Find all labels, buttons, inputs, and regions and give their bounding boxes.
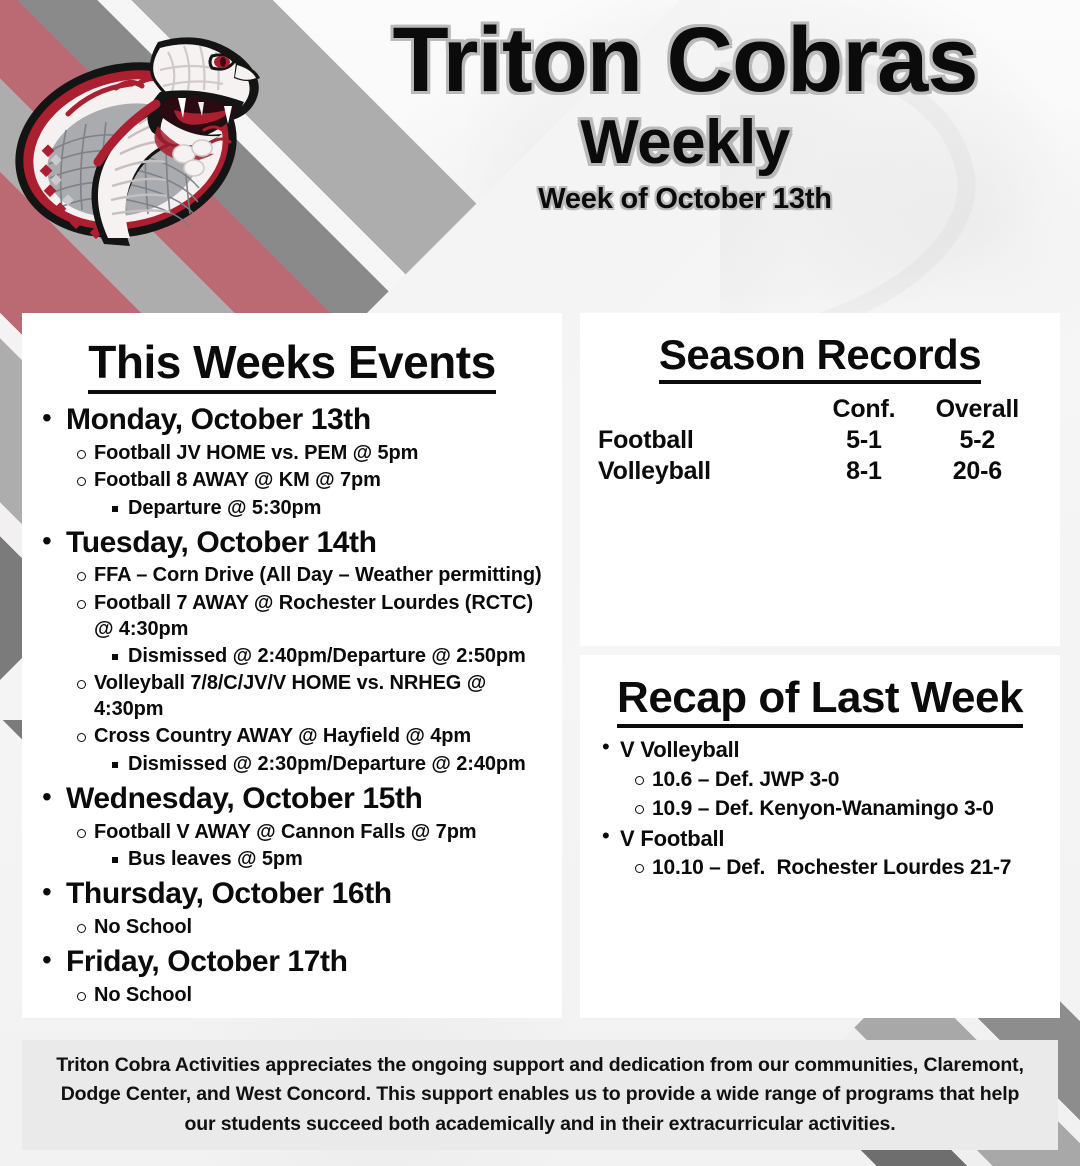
recap-of-last-week-card: Recap of Last Week V Volleyball10.6 – De… bbox=[580, 655, 1060, 1018]
footer-acknowledgement-band: Triton Cobra Activities appreciates the … bbox=[22, 1040, 1058, 1150]
records-card-heading: Season Records bbox=[659, 331, 981, 384]
week-of-label: Week of October 13th bbox=[300, 183, 1070, 216]
records-cell-conf: 5-1 bbox=[807, 425, 920, 456]
events-day-list: Monday, October 13thFootball JV HOME vs.… bbox=[22, 402, 562, 1009]
event-day-label: Wednesday, October 15th bbox=[66, 782, 422, 815]
event-item-label: Football JV HOME vs. PEM @ 5pm bbox=[94, 441, 548, 467]
event-day-label: Thursday, October 16th bbox=[66, 877, 392, 910]
event-item: Football V AWAY @ Cannon Falls @ 7pmBus … bbox=[94, 820, 548, 873]
event-note-list: Dismissed @ 2:30pm/Departure @ 2:40pm bbox=[94, 751, 548, 777]
recap-result-list: 10.10 – Def. Rochester Lourdes 21-7 bbox=[620, 854, 1046, 882]
event-item-label: Football 8 AWAY @ KM @ 7pm bbox=[94, 468, 548, 494]
recap-team-group: V Volleyball10.6 – Def. JWP 3-010.9 – De… bbox=[620, 736, 1046, 823]
records-heading-wrap: Season Records bbox=[580, 313, 1060, 384]
records-cell-sport: Football bbox=[598, 425, 807, 456]
event-item-label: Cross Country AWAY @ Hayfield @ 4pm bbox=[94, 724, 548, 750]
records-cell-overall: 20-6 bbox=[921, 456, 1034, 487]
event-note-label: Dismissed @ 2:40pm/Departure @ 2:50pm bbox=[128, 645, 526, 667]
event-item: Football 7 AWAY @ Rochester Lourdes (RCT… bbox=[94, 591, 548, 669]
event-item-label: Volleyball 7/8/C/JV/V HOME vs. NRHEG @ 4… bbox=[94, 671, 548, 722]
season-records-card: Season Records Conf. Overall Football5-1… bbox=[580, 313, 1060, 646]
recap-team-label: V Football bbox=[620, 826, 724, 851]
event-day-group: Monday, October 13thFootball JV HOME vs.… bbox=[66, 402, 548, 521]
poster-canvas: Triton Cobras Weekly Week of October 13t… bbox=[0, 0, 1080, 1166]
records-row: Volleyball8-120-6 bbox=[598, 456, 1034, 487]
event-item-list: FFA – Corn Drive (All Day – Weather perm… bbox=[66, 563, 548, 777]
records-col-overall: Overall bbox=[921, 394, 1034, 425]
event-note: Departure @ 5:30pm bbox=[128, 495, 548, 521]
recap-team-group: V Football10.10 – Def. Rochester Lourdes… bbox=[620, 825, 1046, 883]
records-cell-overall: 5-2 bbox=[921, 425, 1034, 456]
records-col-sport bbox=[598, 394, 807, 425]
recap-team-list: V Volleyball10.6 – Def. JWP 3-010.9 – De… bbox=[580, 736, 1060, 883]
recap-team-label: V Volleyball bbox=[620, 737, 739, 762]
recap-heading-wrap: Recap of Last Week bbox=[580, 655, 1060, 728]
recap-result-label: 10.9 – Def. Kenyon-Wanamingo 3-0 bbox=[652, 797, 994, 820]
event-day-group: Thursday, October 16thNo School bbox=[66, 876, 548, 940]
event-note-label: Departure @ 5:30pm bbox=[128, 497, 321, 519]
event-item: No School bbox=[94, 983, 548, 1009]
event-item-list: No School bbox=[66, 983, 548, 1009]
recap-result-item: 10.9 – Def. Kenyon-Wanamingo 3-0 bbox=[652, 795, 1046, 823]
event-note: Bus leaves @ 5pm bbox=[128, 846, 548, 872]
event-note-label: Dismissed @ 2:30pm/Departure @ 2:40pm bbox=[128, 753, 526, 775]
records-table-head: Conf. Overall bbox=[598, 394, 1034, 425]
event-day-group: Tuesday, October 14thFFA – Corn Drive (A… bbox=[66, 525, 548, 777]
records-col-conf: Conf. bbox=[807, 394, 920, 425]
event-item: Football 8 AWAY @ KM @ 7pmDeparture @ 5:… bbox=[94, 468, 548, 521]
recap-result-item: 10.10 – Def. Rochester Lourdes 21-7 bbox=[652, 854, 1046, 882]
page-title: Triton Cobras bbox=[300, 14, 1070, 106]
event-item-list: Football V AWAY @ Cannon Falls @ 7pmBus … bbox=[66, 820, 548, 873]
event-day-group: Wednesday, October 15thFootball V AWAY @… bbox=[66, 781, 548, 872]
records-header-row: Conf. Overall bbox=[598, 394, 1034, 425]
season-records-table: Conf. Overall Football5-15-2Volleyball8-… bbox=[598, 394, 1034, 487]
this-weeks-events-card: This Weeks Events Monday, October 13thFo… bbox=[22, 313, 562, 1018]
records-table-wrap: Conf. Overall Football5-15-2Volleyball8-… bbox=[580, 394, 1060, 487]
recap-card-heading: Recap of Last Week bbox=[617, 673, 1023, 728]
event-day-label: Friday, October 17th bbox=[66, 945, 348, 978]
footer-text: Triton Cobra Activities appreciates the … bbox=[48, 1051, 1032, 1139]
event-note-list: Bus leaves @ 5pm bbox=[94, 846, 548, 872]
event-item-label: Football V AWAY @ Cannon Falls @ 7pm bbox=[94, 820, 548, 846]
event-day-label: Monday, October 13th bbox=[66, 403, 371, 436]
event-item: No School bbox=[94, 915, 548, 941]
event-item-label: Football 7 AWAY @ Rochester Lourdes (RCT… bbox=[94, 591, 548, 642]
cobra-mascot-logo-icon bbox=[8, 18, 276, 266]
records-cell-conf: 8-1 bbox=[807, 456, 920, 487]
event-note: Dismissed @ 2:30pm/Departure @ 2:40pm bbox=[128, 751, 548, 777]
page-subtitle: Weekly bbox=[300, 106, 1070, 179]
events-card-heading: This Weeks Events bbox=[88, 335, 495, 394]
recap-result-label: 10.10 – Def. Rochester Lourdes 21-7 bbox=[652, 856, 1011, 879]
recap-result-list: 10.6 – Def. JWP 3-010.9 – Def. Kenyon-Wa… bbox=[620, 766, 1046, 823]
event-item-list: No School bbox=[66, 915, 548, 941]
event-note-list: Dismissed @ 2:40pm/Departure @ 2:50pm bbox=[94, 643, 548, 669]
records-table-body: Football5-15-2Volleyball8-120-6 bbox=[598, 425, 1034, 487]
event-item-list: Football JV HOME vs. PEM @ 5pmFootball 8… bbox=[66, 441, 548, 521]
event-item: Volleyball 7/8/C/JV/V HOME vs. NRHEG @ 4… bbox=[94, 671, 548, 722]
event-item: Cross Country AWAY @ Hayfield @ 4pmDismi… bbox=[94, 724, 548, 777]
poster-header: Triton Cobras Weekly Week of October 13t… bbox=[300, 14, 1070, 216]
events-heading-wrap: This Weeks Events bbox=[22, 313, 562, 394]
recap-result-item: 10.6 – Def. JWP 3-0 bbox=[652, 766, 1046, 794]
event-item-label: No School bbox=[94, 983, 548, 1009]
event-note-list: Departure @ 5:30pm bbox=[94, 495, 548, 521]
recap-result-label: 10.6 – Def. JWP 3-0 bbox=[652, 768, 839, 791]
records-cell-sport: Volleyball bbox=[598, 456, 807, 487]
event-item: FFA – Corn Drive (All Day – Weather perm… bbox=[94, 563, 548, 589]
event-note: Dismissed @ 2:40pm/Departure @ 2:50pm bbox=[128, 643, 548, 669]
event-day-label: Tuesday, October 14th bbox=[66, 526, 377, 559]
event-note-label: Bus leaves @ 5pm bbox=[128, 848, 303, 870]
event-item: Football JV HOME vs. PEM @ 5pm bbox=[94, 441, 548, 467]
records-row: Football5-15-2 bbox=[598, 425, 1034, 456]
event-item-label: FFA – Corn Drive (All Day – Weather perm… bbox=[94, 563, 548, 589]
event-item-label: No School bbox=[94, 915, 548, 941]
event-day-group: Friday, October 17thNo School bbox=[66, 944, 548, 1008]
